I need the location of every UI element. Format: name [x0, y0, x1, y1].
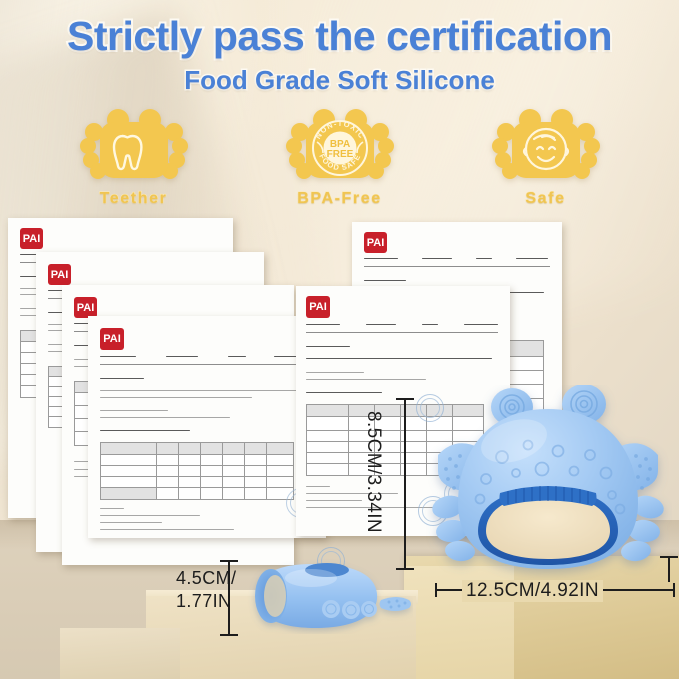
badge-bpa-free: NON-TOXIC FOOD SAFE BPA FREE BPA-Free	[276, 108, 404, 208]
dimension-line-height	[404, 398, 406, 570]
dimension-cap-top	[396, 398, 414, 400]
badge-art: NON-TOXIC FOOD SAFE BPA FREE	[276, 108, 404, 186]
side-teether-product	[235, 556, 413, 634]
crab-badge-shape	[74, 108, 194, 186]
bpa-free-seal-icon: NON-TOXIC FOOD SAFE BPA FREE	[313, 119, 367, 175]
dimension-cap-small-top	[220, 560, 238, 562]
badge-label: Teether	[70, 190, 198, 208]
dimension-label-small-line1: 4.5CM/	[176, 567, 236, 590]
badge-label: Safe	[482, 190, 610, 208]
headline-block: Strictly pass the certification Food Gra…	[0, 14, 679, 95]
crab-body-group	[430, 385, 666, 569]
feature-badges: Teether	[0, 108, 679, 208]
side-bumps	[322, 600, 377, 619]
dimension-cap-left	[435, 583, 437, 597]
svg-text:FREE: FREE	[326, 149, 353, 160]
dimension-cap-bottom	[396, 568, 414, 570]
page-subtitle: Food Grade Soft Silicone	[0, 66, 679, 95]
product-infographic: Strictly pass the certification Food Gra…	[0, 0, 679, 679]
pai-logo: PAI	[20, 228, 43, 249]
side-tail-fin	[380, 597, 412, 611]
display-box-front	[60, 628, 180, 679]
pai-logo: PAI	[100, 328, 124, 350]
page-title: Strictly pass the certification	[0, 14, 679, 60]
dimension-cap-right	[673, 583, 675, 597]
crab-badge-shape	[486, 108, 606, 186]
dimension-label-width: 12.5CM/4.92IN	[462, 580, 603, 602]
pai-logo: PAI	[306, 296, 330, 318]
badge-safe: Safe	[482, 108, 610, 208]
dimension-label-height: 8.5CM/3.34IN	[362, 411, 384, 533]
crab-teether-product	[424, 385, 672, 580]
pai-logo: PAI	[364, 232, 387, 253]
dimension-tick-right	[668, 556, 670, 582]
test-report-document: PAI	[88, 316, 326, 538]
dimension-tick-right-cap	[660, 556, 678, 558]
pai-logo: PAI	[74, 297, 97, 318]
dimension-label-small-line2: 1.77IN	[176, 590, 236, 613]
pai-logo: PAI	[48, 264, 71, 285]
badge-art	[70, 108, 198, 186]
badge-teether: Teether	[70, 108, 198, 208]
dimension-cap-small-bottom	[220, 634, 238, 636]
crab-badge-shape: NON-TOXIC FOOD SAFE BPA FREE	[280, 108, 400, 186]
badge-art	[482, 108, 610, 186]
dimension-label-small-wrap: 4.5CM/ 1.77IN	[176, 567, 236, 612]
badge-label: BPA-Free	[276, 190, 404, 208]
